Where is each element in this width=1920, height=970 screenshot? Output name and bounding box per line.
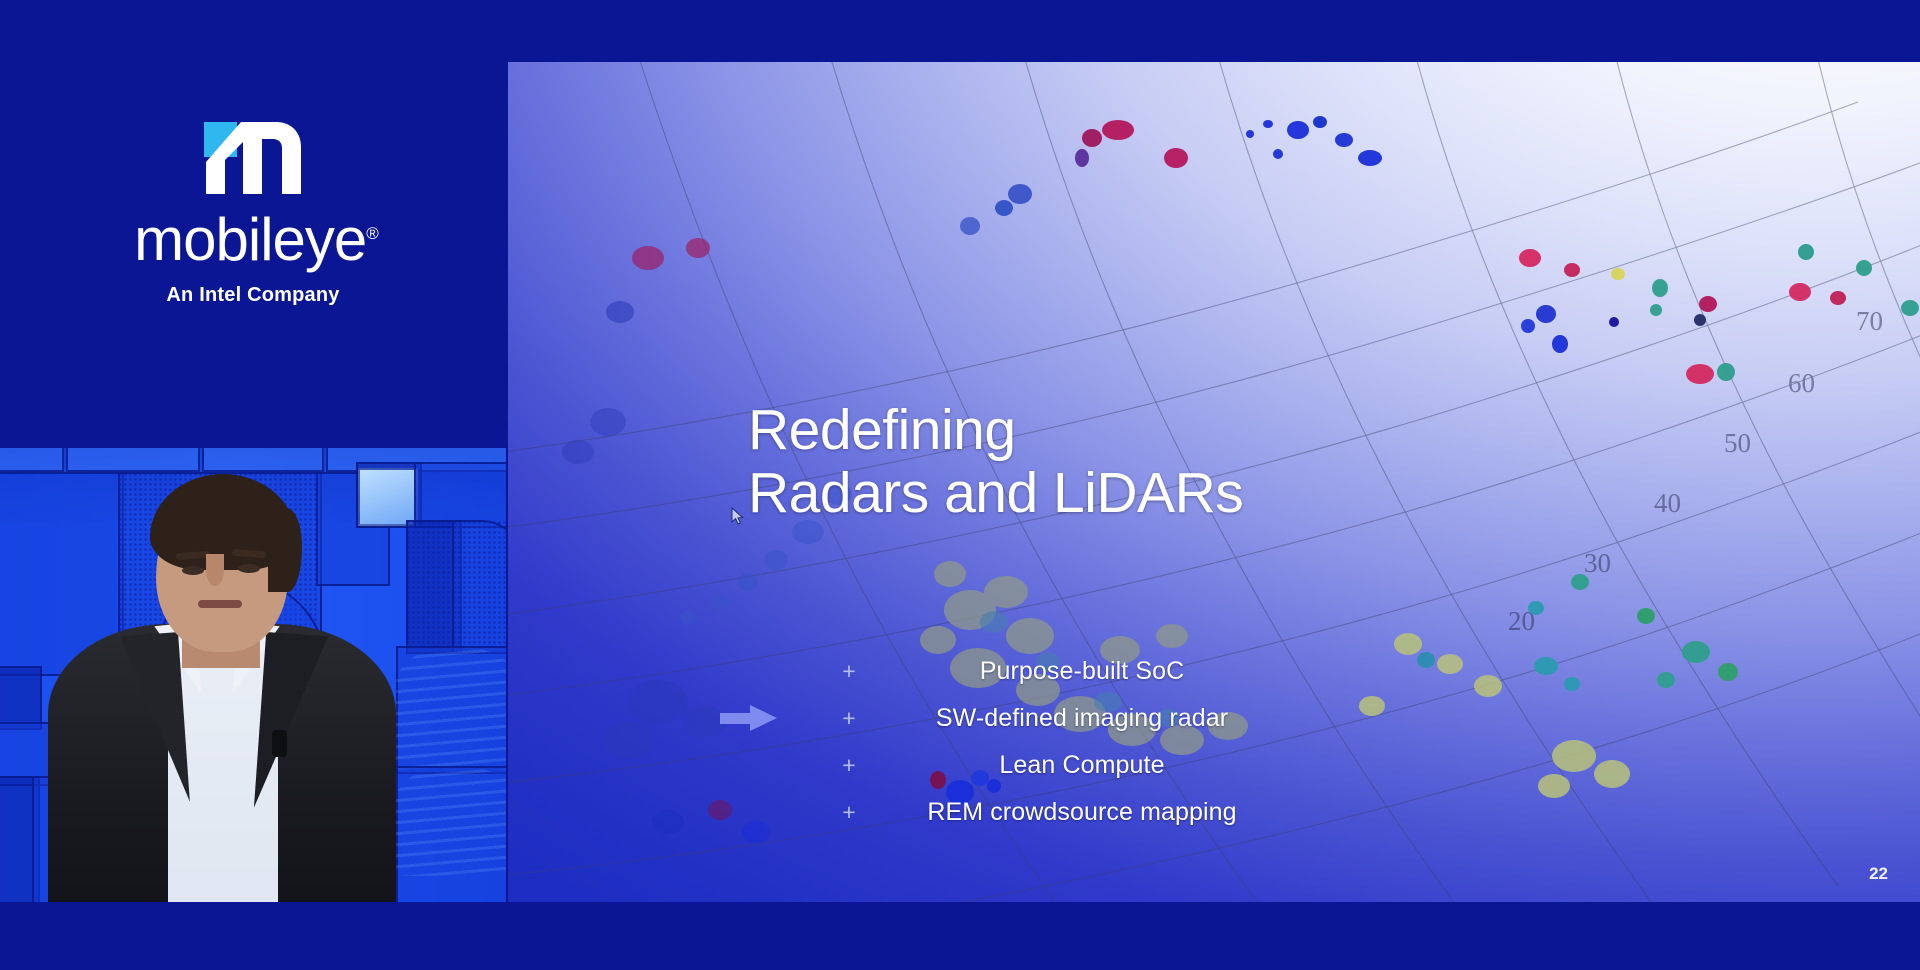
presenter-lapel-left <box>120 632 190 806</box>
plus-icon: + <box>840 660 858 683</box>
mouse-cursor-icon <box>731 507 744 525</box>
brand-panel: mobileye® An Intel Company <box>0 0 506 448</box>
plus-icon: + <box>840 754 858 777</box>
presenter-figure <box>0 448 506 903</box>
bullet-item-rem-crowdsource-mapping[interactable]: + REM crowdsource mapping <box>708 789 1338 836</box>
presenter-lapel-microphone <box>272 730 287 757</box>
bullet-item-sw-defined-imaging-radar[interactable]: + SW-defined imaging radar <box>708 695 1338 742</box>
arrow-head <box>750 705 777 731</box>
bottom-background-bar <box>0 902 1920 970</box>
bullet-item-purpose-built-soc[interactable]: + Purpose-built SoC <box>708 648 1338 695</box>
plus-icon: + <box>840 707 858 730</box>
slide-number: 22 <box>1869 864 1888 884</box>
bullet-label: Purpose-built SoC <box>872 657 1292 686</box>
screen-root: mobileye® An Intel Company <box>0 0 1920 970</box>
presenter-nose <box>206 554 224 586</box>
slide-title-line-2: Radars and LiDARs <box>748 462 1243 525</box>
right-arrow-icon <box>720 705 778 731</box>
bullet-label: REM crowdsource mapping <box>872 798 1292 827</box>
mobileye-m-logo-icon <box>200 118 306 202</box>
mobileye-wordmark: mobileye® <box>0 210 506 270</box>
presenter-mouth <box>198 600 242 608</box>
mobileye-logo: mobileye® An Intel Company <box>0 118 506 307</box>
slide-title: Redefining Radars and LiDARs <box>748 399 1243 525</box>
presenter-hair-side <box>268 508 302 592</box>
slide-bullet-list: + Purpose-built SoC + SW-defined imaging… <box>708 648 1338 836</box>
presenter-eye-right <box>238 564 260 573</box>
bullet-label: SW-defined imaging radar <box>872 704 1292 733</box>
bullet-item-lean-compute[interactable]: + Lean Compute <box>708 742 1338 789</box>
arrow-shaft <box>720 713 754 724</box>
presenter-eye-left <box>182 566 204 575</box>
plus-icon: + <box>840 801 858 824</box>
bullet-label: Lean Compute <box>872 751 1292 780</box>
brand-tagline: An Intel Company <box>0 284 506 307</box>
presentation-slide: 90 80 70 60 50 40 30 20 <box>508 62 1920 902</box>
presenter-video-panel <box>0 448 506 903</box>
presenter-lapel-right <box>254 632 328 812</box>
slide-title-line-1: Redefining <box>748 399 1243 462</box>
